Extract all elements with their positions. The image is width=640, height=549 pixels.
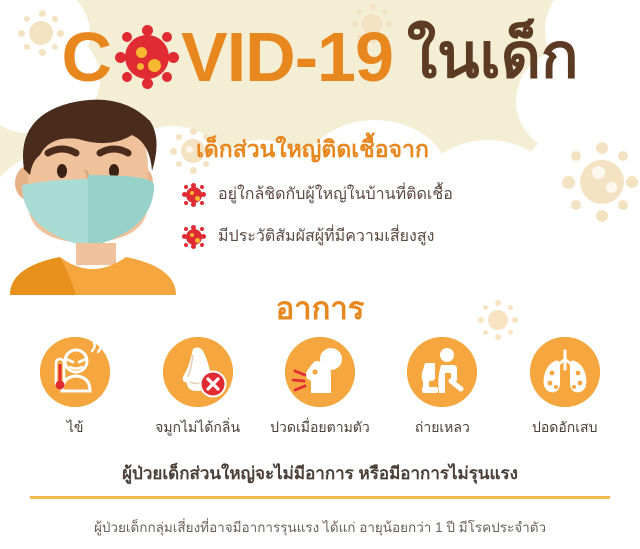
virus-bullet-icon bbox=[182, 183, 206, 207]
symptoms-list: ไข้ จมูกไม่ได้กลิ่น bbox=[0, 337, 640, 439]
boy-with-mask-illustration bbox=[0, 95, 185, 295]
title-thai: ในเด็ก bbox=[407, 26, 579, 88]
symptom-label: ถ่ายเหลว bbox=[386, 417, 498, 439]
infographic-poster: C VID-19 ในเด็ก เด็กส่วนใหญ่ติดเชื้อจาก bbox=[0, 0, 640, 549]
secondary-note: ผู้ป่วยเด็กกลุ่มเสี่ยงที่อาจมีอาการรุนแร… bbox=[0, 516, 640, 538]
virus-icon bbox=[115, 25, 179, 89]
symptom-label: ปวดเมื่อยตามตัว bbox=[264, 417, 376, 439]
symptom-item: ปอดอักเสบ bbox=[509, 337, 621, 439]
list-item-label: อยู่ใกล้ชิดกับผู้ใหญ่ในบ้านที่ติดเชื้อ bbox=[218, 182, 453, 207]
symptom-item: จมูกไม่ได้กลิ่น bbox=[142, 337, 254, 439]
symptom-item: ถ่ายเหลว bbox=[386, 337, 498, 439]
virus-bullet-icon bbox=[182, 225, 206, 249]
no-smell-icon bbox=[163, 337, 233, 407]
symptom-item: ไข้ bbox=[19, 337, 131, 439]
symptom-item: ปวดเมื่อยตามตัว bbox=[264, 337, 376, 439]
title-suffix: VID-19 bbox=[181, 22, 393, 92]
page-title: C VID-19 ในเด็ก bbox=[0, 18, 640, 96]
symptom-label: จมูกไม่ได้กลิ่น bbox=[142, 417, 254, 439]
list-item-label: มีประวัติสัมผัสผู้ที่มีความเสี่ยงสูง bbox=[218, 224, 434, 249]
symptoms-heading: อาการ bbox=[0, 283, 640, 333]
transmission-heading: เด็กส่วนใหญ่ติดเชื้อจาก bbox=[196, 132, 429, 168]
title-prefix: C bbox=[61, 22, 111, 92]
primary-note: ผู้ป่วยเด็กส่วนใหญ่จะไม่มีอาการ หรือมีอา… bbox=[0, 460, 640, 487]
fever-icon bbox=[40, 337, 110, 407]
symptom-label: ไข้ bbox=[19, 417, 131, 439]
transmission-list: อยู่ใกล้ชิดกับผู้ใหญ่ในบ้านที่ติดเชื้อ ม… bbox=[182, 182, 622, 266]
pneumonia-icon bbox=[530, 337, 600, 407]
list-item: มีประวัติสัมผัสผู้ที่มีความเสี่ยงสูง bbox=[182, 224, 622, 249]
divider bbox=[30, 496, 610, 499]
body-ache-icon bbox=[285, 337, 355, 407]
symptom-label: ปอดอักเสบ bbox=[509, 417, 621, 439]
diarrhea-icon bbox=[407, 337, 477, 407]
list-item: อยู่ใกล้ชิดกับผู้ใหญ่ในบ้านที่ติดเชื้อ bbox=[182, 182, 622, 207]
